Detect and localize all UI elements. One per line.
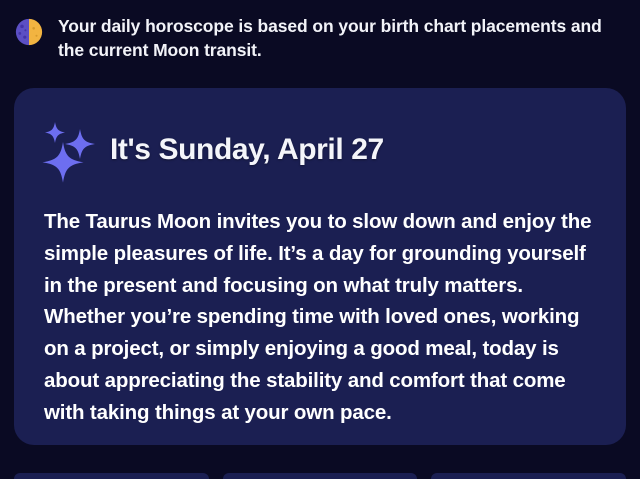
peek-card-row: [0, 473, 640, 479]
intro-text: Your daily horoscope is based on your bi…: [58, 14, 624, 62]
peek-card-1[interactable]: [14, 473, 209, 479]
moon-phase-icon: [14, 17, 44, 47]
peek-card-2[interactable]: [223, 473, 418, 479]
card-title: It's Sunday, April 27: [110, 133, 384, 166]
card-header: It's Sunday, April 27: [36, 114, 604, 184]
horoscope-card[interactable]: It's Sunday, April 27 The Taurus Moon in…: [14, 88, 626, 445]
sparkles-icon: [40, 116, 96, 184]
intro-row: Your daily horoscope is based on your bi…: [0, 0, 640, 62]
horoscope-body-text: The Taurus Moon invites you to slow down…: [36, 206, 604, 428]
peek-card-3[interactable]: [431, 473, 626, 479]
